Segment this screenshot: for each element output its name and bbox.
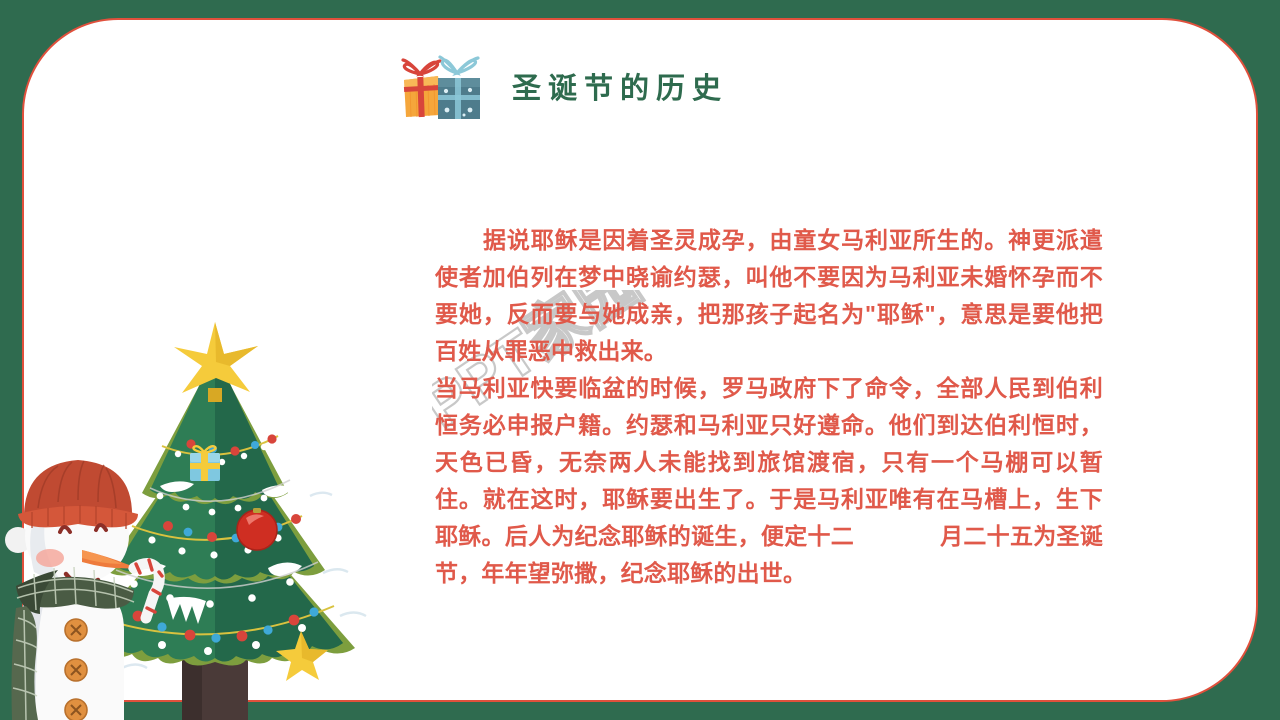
gift-boxes-icon (394, 53, 490, 125)
paragraph-1: 据说耶稣是因着圣灵成孕，由童女马利亚所生的。神更派遣使者加伯列在梦中晓谕约瑟，叫… (435, 222, 1103, 370)
page-title: 圣诞节的历史 (512, 75, 728, 104)
body-text-block: 据说耶稣是因着圣灵成孕，由童女马利亚所生的。神更派遣使者加伯列在梦中晓谕约瑟，叫… (435, 222, 1103, 592)
slide-canvas: 圣诞节的历史 PPT家园 据说耶稣是因着圣灵成孕，由童女马利亚所生的。神更派遣使… (0, 0, 1280, 720)
tree-top-star (174, 322, 258, 402)
paragraph-2: 当马利亚快要临盆的时候，罗马政府下了命令，全部人民到伯利恒务必申报户籍。约瑟和马… (435, 370, 1103, 592)
slide-header: 圣诞节的历史 (394, 54, 728, 124)
christmas-tree-and-snowman-illustration (10, 318, 410, 720)
snowman-buttons (65, 619, 87, 720)
